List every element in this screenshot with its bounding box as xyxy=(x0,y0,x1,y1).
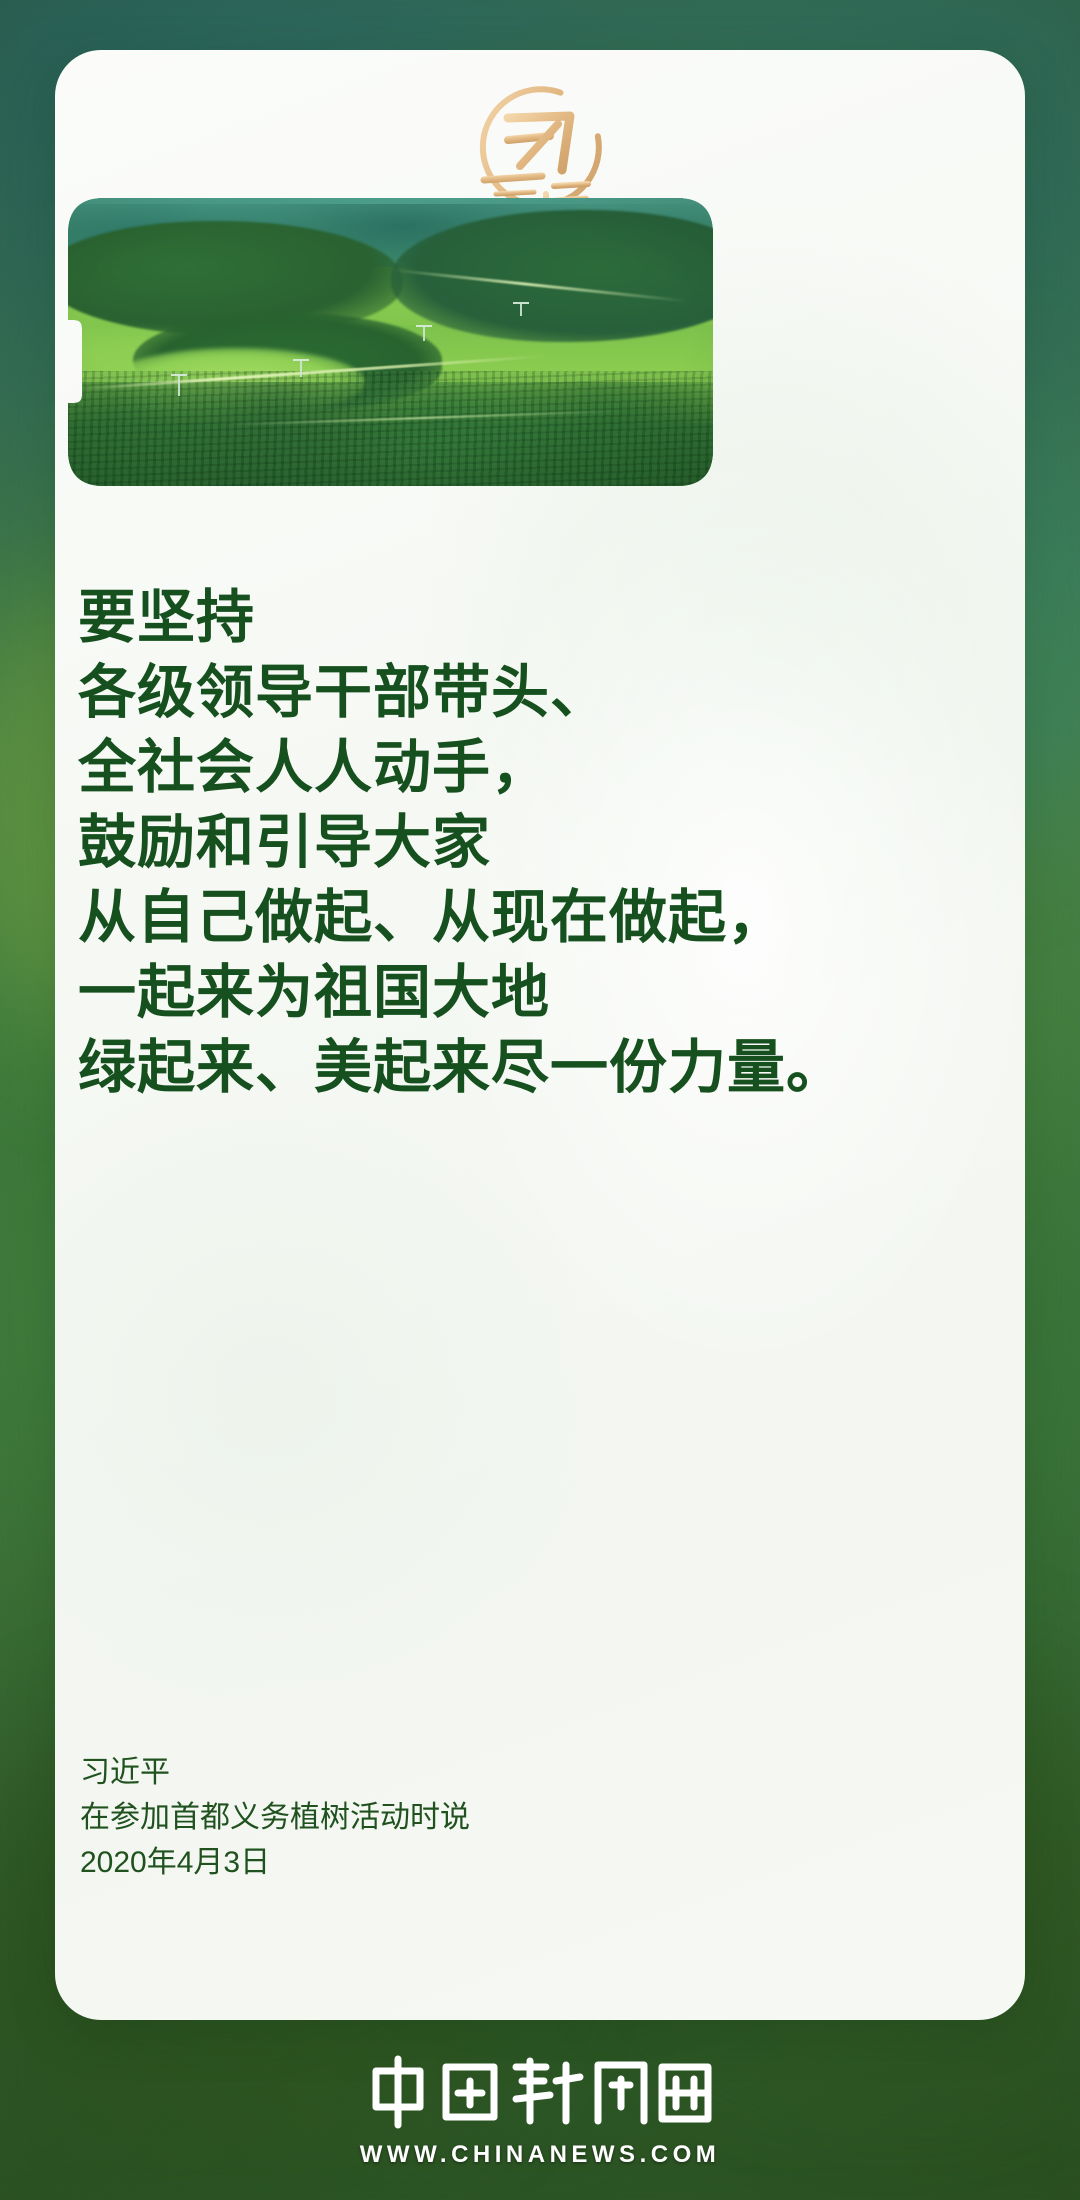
quote-line: 一起来为祖国大地 xyxy=(78,955,998,1030)
attribution-speaker: 习近平 xyxy=(80,1750,470,1795)
quote-line: 要坚持 xyxy=(78,580,998,655)
quote-block: 要坚持 各级领导干部带头、 全社会人人动手， 鼓励和引导大家 从自己做起、从现在… xyxy=(78,580,998,1105)
forest-meadow-photo xyxy=(68,198,713,486)
quote-line: 鼓励和引导大家 xyxy=(78,805,998,880)
attribution-occasion: 在参加首都义务植树活动时说 xyxy=(80,1795,470,1840)
chinanews-logo-icon xyxy=(360,2055,720,2131)
quote-line: 各级领导干部带头、 xyxy=(78,655,998,730)
quote-line: 从自己做起、从现在做起， xyxy=(78,880,998,955)
photo-vignette xyxy=(68,198,713,486)
quote-line: 绿起来、美起来尽一份力量。 xyxy=(78,1030,998,1105)
photo-frame xyxy=(68,198,713,486)
attribution-block: 习近平 在参加首都义务植树活动时说 2020年4月3日 xyxy=(80,1750,470,1885)
quote-line: 全社会人人动手， xyxy=(78,730,998,805)
footer-brand: WWW.CHINANEWS.COM xyxy=(0,2055,1080,2169)
footer-url: WWW.CHINANEWS.COM xyxy=(360,2141,720,2169)
attribution-date: 2020年4月3日 xyxy=(80,1840,470,1885)
photo-canvas xyxy=(68,198,713,486)
quote-card: 要坚持 各级领导干部带头、 全社会人人动手， 鼓励和引导大家 从自己做起、从现在… xyxy=(55,50,1025,2020)
